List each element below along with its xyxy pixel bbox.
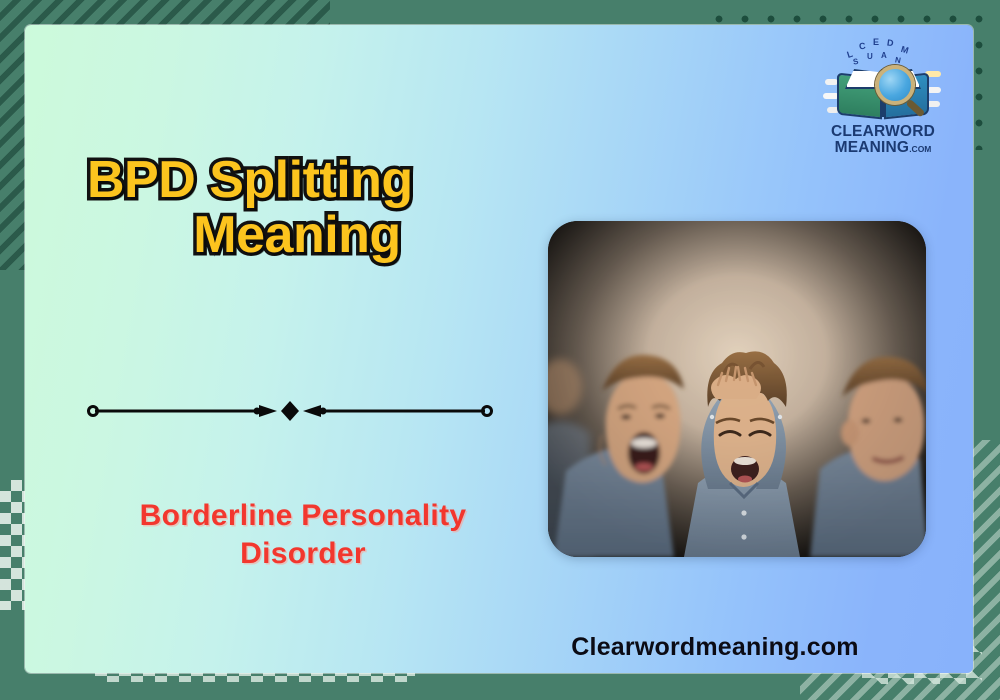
brand-wordmark-suffix: .COM <box>909 144 931 154</box>
hero-image <box>548 221 926 557</box>
logo-chip <box>927 87 941 93</box>
brand-wordmark-line2: MEANING.COM <box>831 140 935 156</box>
hero-image-illustration <box>548 221 926 557</box>
page-title: BPD Splitting Meaning <box>87 153 507 263</box>
magnifying-glass-icon <box>875 65 929 119</box>
floating-letter: U <box>867 52 875 61</box>
floating-letter: E <box>873 37 881 47</box>
brand-wordmark-meaning: MEANING <box>835 139 910 156</box>
page-subtitle: Borderline Personality Disorder <box>83 497 523 574</box>
magnifier-handle <box>906 99 926 118</box>
floating-letter: C <box>858 40 868 51</box>
floating-letter: S <box>852 56 861 66</box>
poster-canvas: L C E D M S U A N <box>0 0 1000 700</box>
floating-letter: D <box>886 37 896 48</box>
brand-logo[interactable]: L C E D M S U A N <box>815 37 951 169</box>
brand-wordmark-line1: CLEARWORD <box>831 124 935 140</box>
floating-letters-decoration: L C E D M S U A N <box>823 37 943 67</box>
page-title-line1: BPD Splitting <box>87 151 413 209</box>
ornamental-divider <box>85 400 495 422</box>
footer-website-url[interactable]: Clearwordmeaning.com <box>495 633 935 662</box>
divider-graphic <box>85 400 495 422</box>
page-title-line2: Meaning <box>87 208 507 263</box>
book-magnifier-icon: L C E D M S U A N <box>823 37 943 123</box>
floating-letter: M <box>900 44 912 56</box>
content-card: L C E D M S U A N <box>25 25 973 673</box>
brand-wordmark: CLEARWORD MEANING.COM <box>831 124 935 155</box>
magnifier-lens <box>875 65 915 105</box>
floating-letter: A <box>881 51 889 60</box>
page-subtitle-line2: Disorder <box>83 535 523 573</box>
page-subtitle-line1: Borderline Personality <box>83 497 523 535</box>
